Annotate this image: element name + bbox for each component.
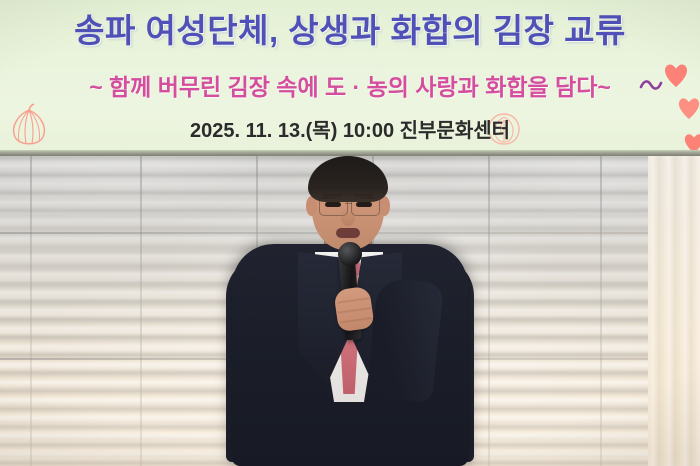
event-banner: 송파 여성단체, 상생과 화합의 김장 교류 ~ 함께 버무린 김장 속에 도 …: [0, 0, 700, 154]
photo-stage: 송파 여성단체, 상생과 화합의 김장 교류 ~ 함께 버무린 김장 속에 도 …: [0, 0, 700, 466]
eyeglasses-icon: [351, 196, 380, 216]
banner-subtitle: ~ 함께 버무린 김장 속에 도 · 농의 사랑과 화합을 담다~: [0, 68, 700, 102]
speaker-fingers: [336, 290, 375, 330]
speaker-arm: [366, 277, 444, 403]
banner-bottom-edge: [0, 150, 700, 156]
banner-title: 송파 여성단체, 상생과 화합의 김장 교류: [0, 4, 700, 52]
eyeglasses-bridge: [345, 203, 352, 204]
speaker-mouth: [336, 228, 360, 238]
speaker-figure: [232, 160, 468, 466]
speaker-nose: [341, 208, 355, 226]
speaker-hair: [308, 156, 388, 202]
banner-date-venue: 2025. 11. 13.(목) 10:00 진부문화센터: [0, 114, 700, 143]
